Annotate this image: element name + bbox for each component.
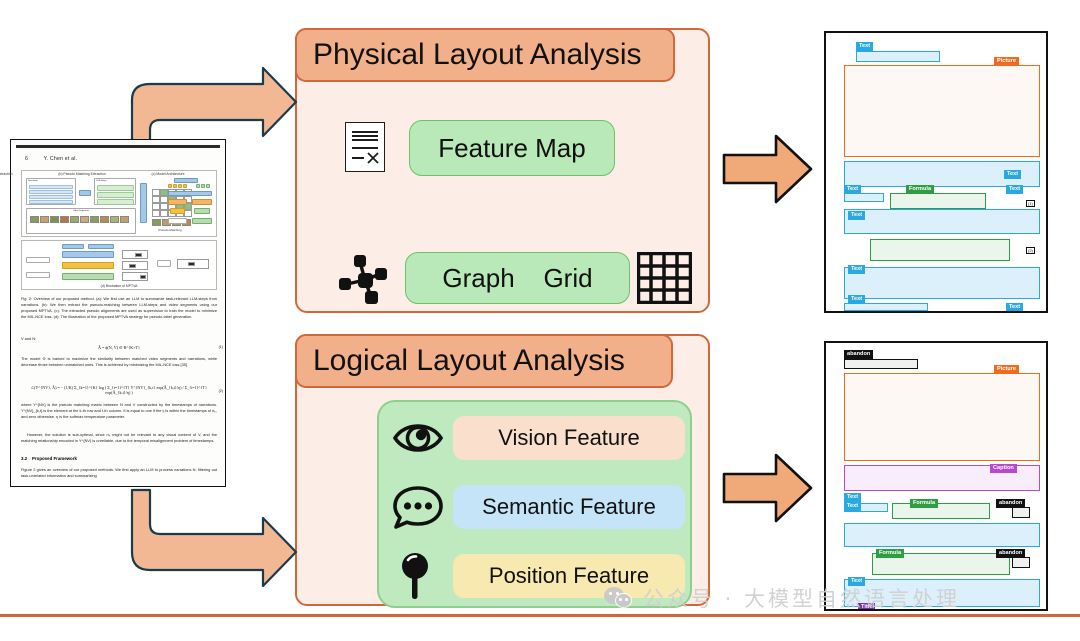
physical-result-page: Text Picture Text Text Formula (1) Text … bbox=[830, 37, 1042, 307]
physical-layout-panel: Physical Layout Analysis Feature Map Gra… bbox=[295, 28, 710, 313]
physical-panel-title: Physical Layout Analysis bbox=[295, 28, 675, 82]
graph-nodes-icon bbox=[335, 252, 393, 314]
label-text-para2: Text bbox=[848, 577, 865, 586]
equation-tag-1: (1) bbox=[1026, 200, 1035, 207]
paragraph-4: Figure 2 gives an overview of our propos… bbox=[21, 467, 217, 479]
label-formula-2: Formula bbox=[876, 549, 904, 558]
graph-grid-pill[interactable]: Graph Grid bbox=[405, 252, 630, 304]
label-picture: Picture bbox=[994, 365, 1019, 374]
matrix-axis-bar bbox=[140, 183, 147, 223]
label-text-vn: Text bbox=[844, 185, 861, 194]
paragraph-2: where Y^{NV} is the pseudo matching matr… bbox=[21, 402, 217, 420]
semantic-feature-pill[interactable]: Semantic Feature bbox=[453, 485, 685, 529]
label-abandon-header: abandon bbox=[844, 350, 873, 359]
equation-2-number: (2) bbox=[219, 389, 223, 393]
figure-top-panel: (a) LLM-steps Extraction (b) Pseudo Matc… bbox=[21, 170, 217, 237]
line-v-and-n: V and N: bbox=[21, 336, 217, 342]
eye-icon bbox=[391, 416, 445, 460]
label-text-caption: Text bbox=[1004, 170, 1021, 179]
video-thumbnails bbox=[30, 216, 129, 223]
source-document: 6 Y. Chen et al. (a) LLM-steps Extractio… bbox=[10, 139, 226, 487]
document-lines-icon bbox=[345, 122, 385, 172]
label-text-section: Text bbox=[848, 295, 865, 304]
page-number: 6 bbox=[25, 156, 28, 162]
narration-line bbox=[29, 200, 73, 204]
result-box-section[interactable] bbox=[844, 303, 928, 311]
result-box-para-1[interactable] bbox=[844, 523, 1040, 547]
llm-steps-box: LLM-Steps bbox=[94, 178, 136, 205]
subcaption-d: (d) Illustration of MPTVA bbox=[22, 284, 216, 288]
page-authors: Y. Chen et al. bbox=[44, 156, 78, 162]
grid-table-icon bbox=[637, 252, 692, 304]
position-feature-label: Position Feature bbox=[489, 563, 649, 589]
vision-feature-pill[interactable]: Vision Feature bbox=[453, 416, 685, 460]
result-box-abandon-eq1[interactable] bbox=[1012, 507, 1030, 518]
result-box-vn[interactable] bbox=[844, 193, 884, 202]
equation-1: Â = ϕ(N, V) ∈ R^{K×T} bbox=[21, 345, 217, 350]
llm-step-line bbox=[97, 192, 134, 198]
llm-steps-title: LLM-Steps bbox=[95, 179, 135, 183]
narration-line bbox=[29, 185, 73, 189]
narrations-title: Narrations bbox=[27, 179, 75, 183]
thumb bbox=[110, 216, 119, 223]
label-text-a: Text bbox=[844, 493, 861, 502]
equation-2: ℒ(Y^{NV}, Â) = − (1/K) Σ_{k=1}^{K} log (… bbox=[21, 385, 217, 395]
logical-result-document: abandon Picture Caption Text Text Formul… bbox=[824, 341, 1048, 611]
logical-layout-panel: Logical Layout Analysis Vision Feature S… bbox=[295, 334, 710, 606]
figure-bottom-panel: (d) Illustration of MPTVA bbox=[21, 240, 217, 290]
label-formula-1: Formula bbox=[910, 499, 938, 508]
grid-label: Grid bbox=[543, 263, 592, 294]
narration-line bbox=[29, 190, 73, 194]
thumb bbox=[60, 216, 69, 223]
label-text-para1b: Text bbox=[848, 211, 865, 220]
thumb bbox=[50, 216, 59, 223]
section-number: 3.2 bbox=[21, 456, 27, 461]
result-box-abandon-header[interactable] bbox=[844, 359, 918, 369]
label-text-para2: Text bbox=[848, 265, 865, 274]
pseudo-matching-label: Pseudo Matching bbox=[125, 228, 215, 232]
label-text-header: Text bbox=[856, 42, 873, 51]
video-segments-title: Video Segments bbox=[27, 209, 135, 213]
semantic-feature-label: Semantic Feature bbox=[482, 494, 656, 520]
label-text-last: Text bbox=[1006, 303, 1023, 312]
page-top-rule bbox=[16, 145, 220, 148]
page-header: 6 Y. Chen et al. bbox=[25, 156, 77, 162]
feature-map-pill[interactable]: Feature Map bbox=[409, 120, 615, 176]
video-segments-box: Video Segments bbox=[26, 208, 136, 234]
thumb bbox=[80, 216, 89, 223]
map-pin-icon bbox=[391, 550, 445, 602]
label-text-para1: Text bbox=[1006, 185, 1023, 194]
result-box-picture[interactable] bbox=[844, 65, 1040, 157]
label-formula-1: Formula bbox=[906, 185, 934, 194]
llm-step-line bbox=[97, 199, 134, 205]
label-text-b: Text bbox=[844, 502, 861, 511]
equation-tag-2: (2) bbox=[1026, 247, 1035, 254]
label-picture: Picture bbox=[994, 57, 1019, 66]
logical-result-page: abandon Picture Caption Text Text Formul… bbox=[830, 347, 1042, 605]
llm-block bbox=[79, 190, 91, 196]
narrations-box: Narrations bbox=[26, 178, 76, 205]
narration-line bbox=[29, 195, 73, 199]
thumb bbox=[70, 216, 79, 223]
figure-2: (a) LLM-steps Extraction (b) Pseudo Matc… bbox=[21, 170, 217, 290]
logical-feature-group: Vision Feature Semantic Feature Position… bbox=[377, 400, 692, 608]
label-caption: Caption bbox=[990, 464, 1017, 473]
result-box-formula-1[interactable] bbox=[892, 503, 990, 519]
equation-1-number: (1) bbox=[219, 345, 223, 349]
elbow-arrow-to-logical bbox=[120, 488, 300, 596]
llm-step-line bbox=[97, 185, 134, 191]
logical-panel-title: Logical Layout Analysis bbox=[295, 334, 673, 388]
vision-feature-label: Vision Feature bbox=[498, 425, 639, 451]
thumb bbox=[100, 216, 109, 223]
position-feature-pill[interactable]: Position Feature bbox=[453, 554, 685, 598]
thumb bbox=[30, 216, 39, 223]
speech-bubble-icon bbox=[391, 484, 445, 530]
thumb bbox=[40, 216, 49, 223]
watermark-bar bbox=[0, 614, 1080, 617]
result-box-abandon-eq2[interactable] bbox=[1012, 557, 1030, 568]
arrow-physical-to-result bbox=[722, 133, 814, 205]
result-box-formula-1[interactable] bbox=[890, 193, 986, 209]
subcaption-b: (b) Pseudo Matching Extraction bbox=[32, 172, 132, 176]
thumb bbox=[90, 216, 99, 223]
result-box-formula-2[interactable] bbox=[870, 239, 1010, 261]
thumb bbox=[120, 216, 129, 223]
mil-nce-block bbox=[174, 178, 198, 183]
figure-caption: Fig. 2: Overview of our proposed method.… bbox=[21, 296, 217, 319]
arrow-logical-to-result bbox=[722, 452, 814, 524]
label-title: Title bbox=[858, 603, 875, 611]
vision-feature-row[interactable]: Vision Feature bbox=[391, 416, 691, 460]
result-box-picture[interactable] bbox=[844, 373, 1040, 461]
subcaption-c: (c) Model Architecture bbox=[118, 172, 218, 176]
physical-result-document: Text Picture Text Text Formula (1) Text … bbox=[824, 31, 1048, 313]
position-feature-row[interactable]: Position Feature bbox=[391, 550, 691, 602]
section-title: Proposed Framework bbox=[32, 456, 77, 461]
label-abandon-eq2: abandon bbox=[996, 549, 1025, 558]
graph-label: Graph bbox=[442, 263, 514, 294]
result-box-header[interactable] bbox=[856, 51, 940, 62]
result-box-para-2[interactable] bbox=[844, 267, 1040, 299]
section-heading: 3.2 Proposed Framework bbox=[21, 456, 77, 461]
result-box-para-1[interactable] bbox=[844, 209, 1040, 234]
feature-map-label: Feature Map bbox=[438, 133, 585, 164]
label-abandon-eq1: abandon bbox=[996, 499, 1025, 508]
paragraph-3: However, the solution is sub-optimal, si… bbox=[21, 432, 217, 444]
semantic-feature-row[interactable]: Semantic Feature bbox=[391, 484, 691, 530]
paragraph-1: The model Φ is trained to maximize the s… bbox=[21, 356, 217, 368]
